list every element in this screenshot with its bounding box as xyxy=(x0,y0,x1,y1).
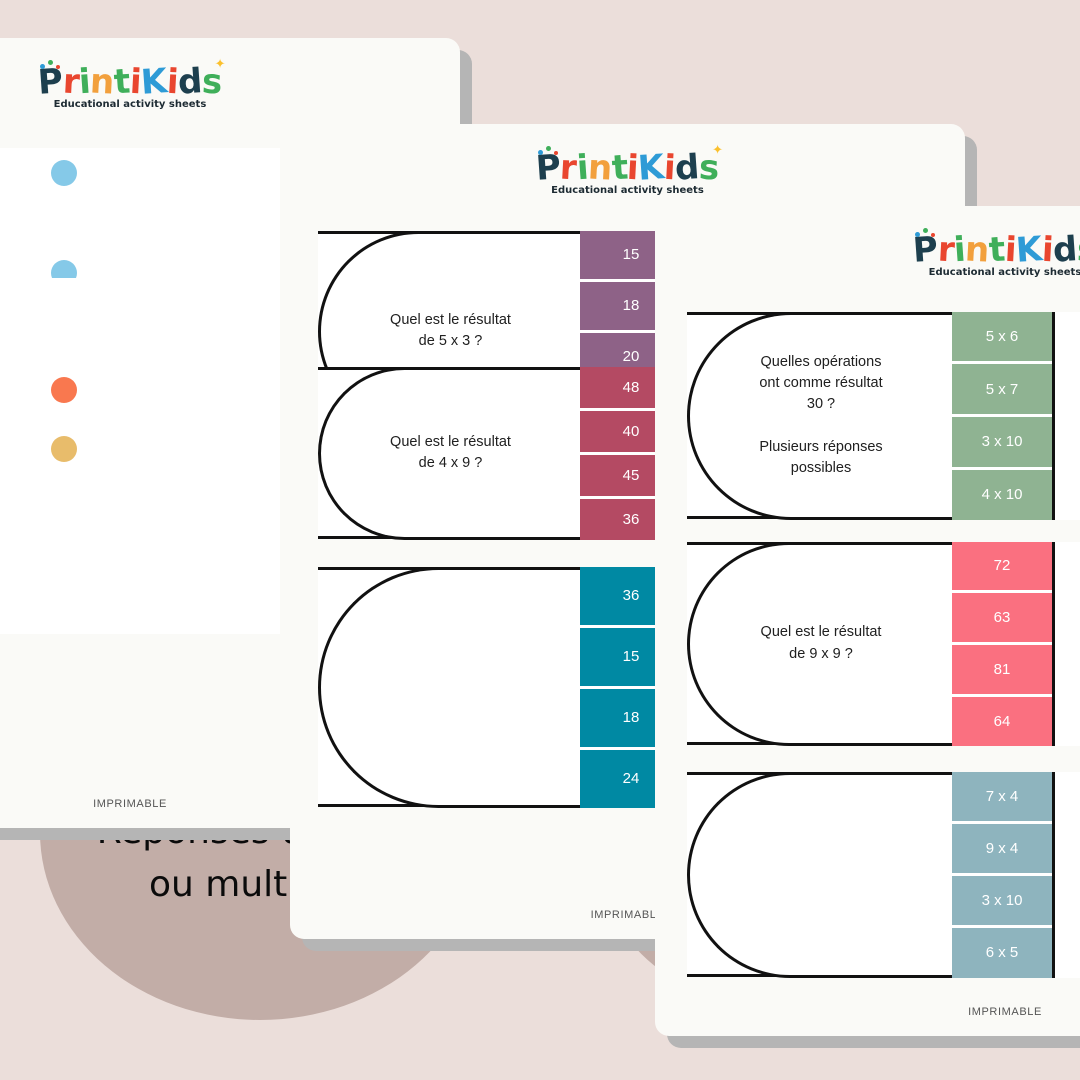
question-row[interactable]: 7 x 49 x 43 x 106 x 5 xyxy=(687,772,1080,977)
logo-dots-icon xyxy=(538,146,564,160)
choice-cell[interactable]: 7 x 4 xyxy=(952,772,1052,821)
question-text: Quelles opérations ont comme résultat 30… xyxy=(751,352,890,478)
question-text: Quel est le résultat de 4 x 9 ? xyxy=(382,432,519,474)
printikids-logo: PrintiKids✦Educational activity sheets xyxy=(536,151,719,196)
choice-cell[interactable]: 4 x 10 xyxy=(952,470,1052,520)
choice-stack: 5 x 65 x 73 x 104 x 10 xyxy=(952,312,1052,520)
choice-cell[interactable]: 5 x 6 xyxy=(952,312,1052,362)
choice-stack: 72638164 xyxy=(952,542,1052,746)
choice-stack: 7 x 49 x 43 x 106 x 5 xyxy=(952,772,1052,978)
choice-cell[interactable]: 3 x 10 xyxy=(952,876,1052,925)
logo-dots-icon xyxy=(915,228,941,242)
question-text: Quel est le résultat de 9 x 9 ? xyxy=(753,622,890,664)
answer-column[interactable] xyxy=(1052,772,1080,978)
choice-cell[interactable]: 9 x 4 xyxy=(952,824,1052,873)
question-prompt: Quelles opérations ont comme résultat 30… xyxy=(687,312,952,520)
answer-column[interactable] xyxy=(1052,312,1080,520)
logo-star-icon: ✦ xyxy=(215,57,226,70)
choice-cell[interactable]: 6 x 5 xyxy=(952,928,1052,977)
question-prompt: Quel est le résultat de 4 x 9 ? xyxy=(318,367,580,540)
logo-dots-icon xyxy=(40,60,66,74)
printikids-logo: PrintiKids✦Educational activity sheets xyxy=(913,233,1080,278)
choice-cell[interactable]: 72 xyxy=(952,542,1052,591)
answer-column[interactable] xyxy=(1052,542,1080,746)
question-text: Quel est le résultat de 5 x 3 ? xyxy=(382,310,519,352)
choice-cell[interactable]: 63 xyxy=(952,593,1052,642)
printikids-logo: PrintiKids✦Educational activity sheets xyxy=(38,65,221,110)
question-prompt: Quel est le résultat de 9 x 9 ? xyxy=(687,542,952,746)
choice-cell[interactable]: 64 xyxy=(952,697,1052,746)
card-header: PrintiKids✦Educational activity sheets xyxy=(0,38,460,136)
choice-cell[interactable]: 81 xyxy=(952,645,1052,694)
question-row[interactable]: Quel est le résultat de 9 x 9 ?72638164 xyxy=(687,542,1080,745)
question-row[interactable]: Quelles opérations ont comme résultat 10… xyxy=(0,423,280,633)
question-prompt xyxy=(687,772,952,978)
answer-dot[interactable] xyxy=(51,436,77,462)
answer-dot[interactable] xyxy=(51,160,77,186)
card-header: PrintiKids✦Educational activity sheets xyxy=(655,206,1080,304)
answer-dot[interactable] xyxy=(51,377,77,403)
answer-column[interactable] xyxy=(0,423,280,634)
worksheet-card-3[interactable]: PrintiKids✦Educational activity sheetsQu… xyxy=(655,206,1080,1036)
logo-star-icon: ✦ xyxy=(712,143,723,156)
question-prompt xyxy=(318,567,580,808)
choice-cell[interactable]: 3 x 10 xyxy=(952,417,1052,467)
printable-footer: IMPRIMABLE xyxy=(655,1006,1080,1018)
question-row[interactable]: Quelles opérations ont comme résultat 30… xyxy=(687,312,1080,519)
choice-cell[interactable]: 5 x 7 xyxy=(952,364,1052,414)
